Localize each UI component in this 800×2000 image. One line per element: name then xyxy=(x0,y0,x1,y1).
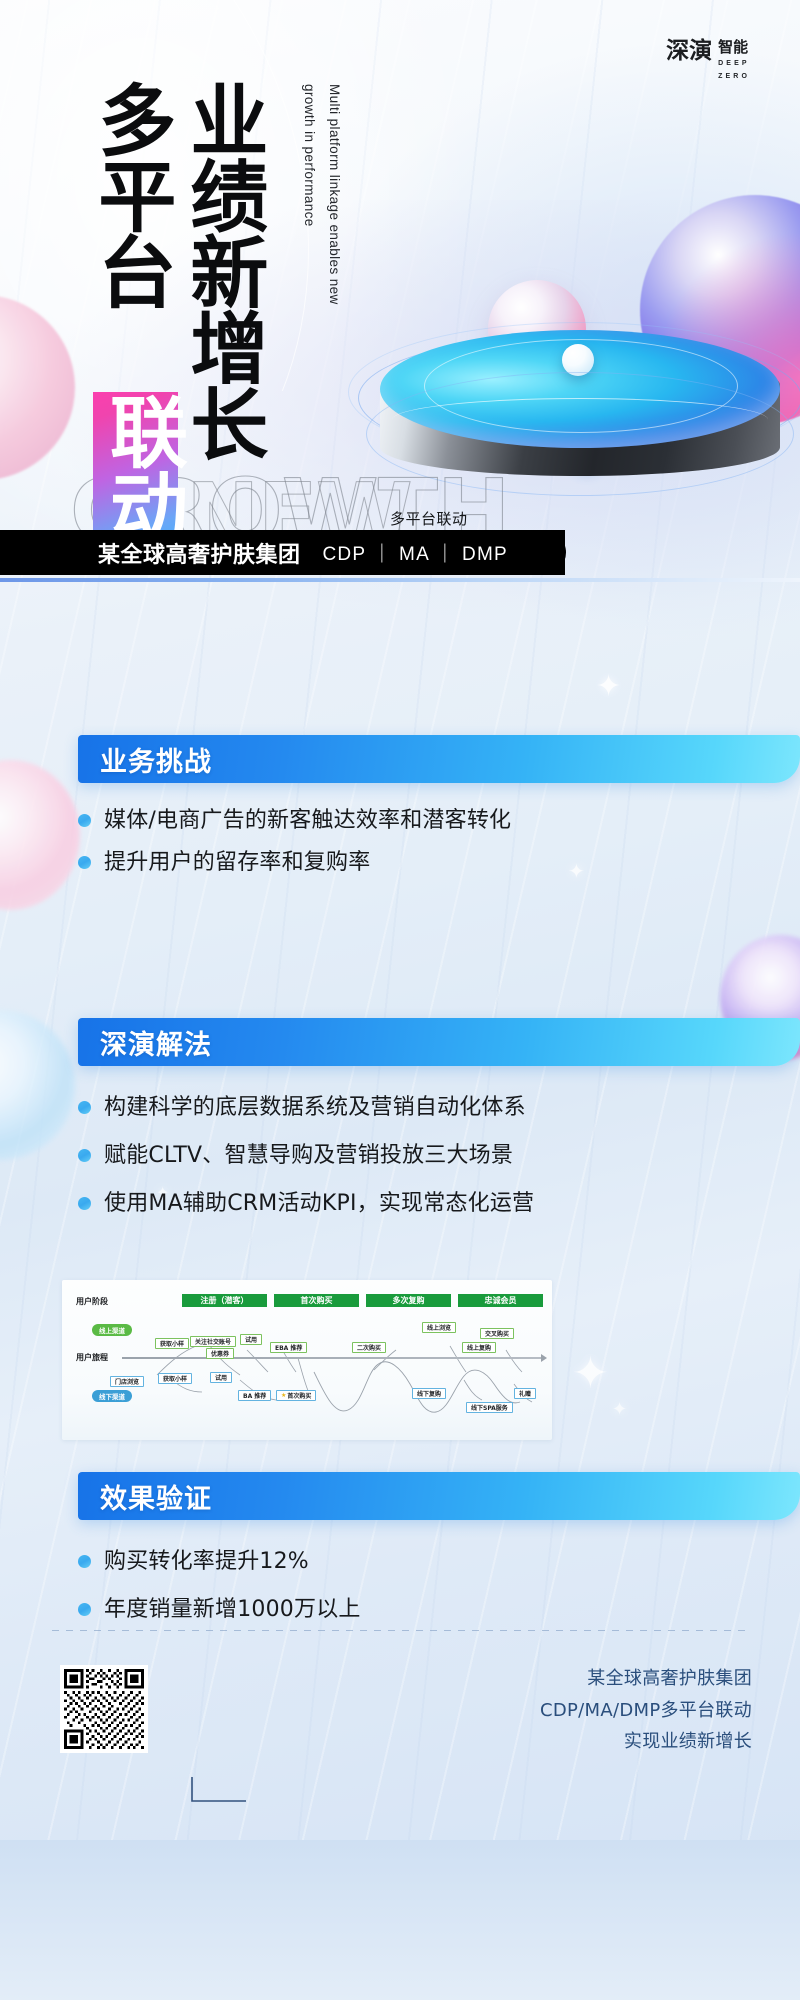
client-name: 某全球高奢护肤集团 xyxy=(98,537,301,569)
bullet-dot-icon xyxy=(78,1101,91,1114)
list-item-label: 媒体/电商广告的新客触达效率和潜客转化 xyxy=(104,805,511,837)
bullet-dot-icon xyxy=(78,1603,91,1616)
section-badge-label: 深演解法 xyxy=(100,1023,212,1062)
list-item: 使用MA辅助CRM活动KPI，实现常态化运营 xyxy=(78,1188,800,1220)
list-item: 媒体/电商广告的新客触达效率和潜客转化 xyxy=(78,805,800,837)
sparkle-icon: ✦ xyxy=(596,672,621,702)
banner-underline xyxy=(0,578,800,582)
journey-node-label: 首次购买 xyxy=(287,1391,311,1400)
journey-stage: 注册（潜客） xyxy=(182,1294,267,1307)
journey-stage: 首次购买 xyxy=(274,1294,359,1307)
section-badge-label: 效果验证 xyxy=(100,1477,212,1516)
journey-stage: 多次复购 xyxy=(366,1294,451,1307)
journey-node-online: 优惠券 xyxy=(206,1348,234,1359)
section-badge-business-challenge: 业务挑战 xyxy=(78,735,800,783)
journey-node-offline: 获取小样 xyxy=(158,1373,192,1384)
journey-node-offline: 门店浏览 xyxy=(110,1376,144,1387)
sparkle-icon: ✦ xyxy=(572,1352,609,1396)
hero-subtitle: 多平台联动 xyxy=(390,508,468,529)
journey-node-online: 获取小样 xyxy=(155,1338,189,1349)
qr-code-icon xyxy=(64,1669,144,1749)
journey-stage: 忠诚会员 xyxy=(458,1294,543,1307)
journey-node-offline: 礼赠 xyxy=(514,1388,536,1399)
journey-node-online: 关注社交账号 xyxy=(190,1336,236,1347)
list-item: 提升用户的留存率和复购率 xyxy=(78,847,800,879)
footer-background-fade xyxy=(0,1840,800,2000)
bullet-dot-icon xyxy=(78,1555,91,1568)
hero-title-left: 多平台 xyxy=(93,80,166,308)
journey-node-offline: 试用 xyxy=(210,1372,232,1383)
list-item-label: 提升用户的留存率和复购率 xyxy=(104,847,370,879)
journey-node-online: EBA 推荐 xyxy=(270,1342,307,1353)
section-solution: 深演解法 构建科学的底层数据系统及营销自动化体系 赋能CLTV、智慧导购及营销投… xyxy=(0,1018,800,1230)
journey-timeline-axis xyxy=(122,1357,542,1359)
journey-node-online: 线上复购 xyxy=(462,1342,496,1353)
list-item: 购买转化率提升12% xyxy=(78,1546,800,1578)
hero-section: GROWTH NEW 多平台 联动 业绩新增长 Multi platform l… xyxy=(0,0,800,600)
client-banner: 某全球高奢护肤集团 CDP ｜ MA ｜ DMP xyxy=(0,530,565,575)
footer-line: 实现业绩新增长 xyxy=(540,1726,752,1758)
customer-journey-diagram: 用户阶段 用户旅程 注册（潜客） 首次购买 多次复购 忠诚会员 线上渠道 线下渠… xyxy=(62,1280,552,1440)
section-business-challenge: 业务挑战 媒体/电商广告的新客触达效率和潜客转化 提升用户的留存率和复购率 xyxy=(0,735,800,889)
sparkle-icon: ✦ xyxy=(612,1400,627,1418)
hero-english-subtitle: Multi platform linkage enables new growt… xyxy=(296,84,346,305)
bullet-dot-icon xyxy=(78,1197,91,1210)
section-badge-results: 效果验证 xyxy=(78,1472,800,1520)
footer-summary: 某全球高奢护肤集团 CDP/MA/DMP多平台联动 实现业绩新增长 xyxy=(540,1663,752,1758)
journey-channel-online: 线上渠道 xyxy=(92,1324,132,1336)
hero-title-highlight: 联动 xyxy=(93,392,178,544)
section-badge-solution: 深演解法 xyxy=(78,1018,800,1066)
footer-line: 某全球高奢护肤集团 xyxy=(540,1663,752,1695)
section-results: 效果验证 购买转化率提升12% 年度销量新增1000万以上 xyxy=(0,1472,800,1636)
journey-node-online: 二次购买 xyxy=(352,1342,386,1353)
hero-title-right: 业绩新增长 xyxy=(185,80,258,460)
journey-row-label-journey: 用户旅程 xyxy=(76,1352,108,1363)
bullet-list-business-challenge: 媒体/电商广告的新客触达效率和潜客转化 提升用户的留存率和复购率 xyxy=(78,805,800,879)
bullet-dot-icon xyxy=(78,856,91,869)
star-icon: ★ xyxy=(281,1392,286,1399)
list-item-label: 使用MA辅助CRM活动KPI，实现常态化运营 xyxy=(104,1188,534,1220)
journey-node-offline: BA 推荐 xyxy=(238,1390,271,1401)
qr-code[interactable] xyxy=(60,1665,148,1753)
bullet-dot-icon xyxy=(78,814,91,827)
journey-node-online: 试用 xyxy=(240,1334,262,1345)
section-badge-label: 业务挑战 xyxy=(100,740,212,779)
footer-line: CDP/MA/DMP多平台联动 xyxy=(540,1695,752,1727)
journey-row-label-stage: 用户阶段 xyxy=(76,1296,108,1307)
journey-channel-offline: 线下渠道 xyxy=(92,1390,132,1402)
journey-node-offline: 线下复购 xyxy=(412,1388,446,1399)
journey-node-online: 交叉购买 xyxy=(480,1328,514,1339)
footer-divider xyxy=(52,1630,752,1631)
bullet-list-solution: 构建科学的底层数据系统及营销自动化体系 赋能CLTV、智慧导购及营销投放三大场景… xyxy=(78,1092,800,1220)
journey-node-offline-star: ★首次购买 xyxy=(276,1390,316,1401)
list-item-label: 构建科学的底层数据系统及营销自动化体系 xyxy=(104,1092,526,1124)
bullet-list-results: 购买转化率提升12% 年度销量新增1000万以上 xyxy=(78,1546,800,1626)
journey-node-offline: 线下SPA服务 xyxy=(466,1402,513,1413)
list-item: 赋能CLTV、智慧导购及营销投放三大场景 xyxy=(78,1140,800,1172)
list-item-label: 购买转化率提升12% xyxy=(104,1546,309,1578)
decorative-arrow-icon xyxy=(190,1775,248,1805)
bullet-dot-icon xyxy=(78,1149,91,1162)
journey-node-online: 线上浏览 xyxy=(422,1322,456,1333)
list-item: 年度销量新增1000万以上 xyxy=(78,1594,800,1626)
list-item: 构建科学的底层数据系统及营销自动化体系 xyxy=(78,1092,800,1124)
list-item-label: 赋能CLTV、智慧导购及营销投放三大场景 xyxy=(104,1140,513,1172)
product-tags: CDP ｜ MA ｜ DMP xyxy=(323,539,508,566)
list-item-label: 年度销量新增1000万以上 xyxy=(104,1594,361,1626)
